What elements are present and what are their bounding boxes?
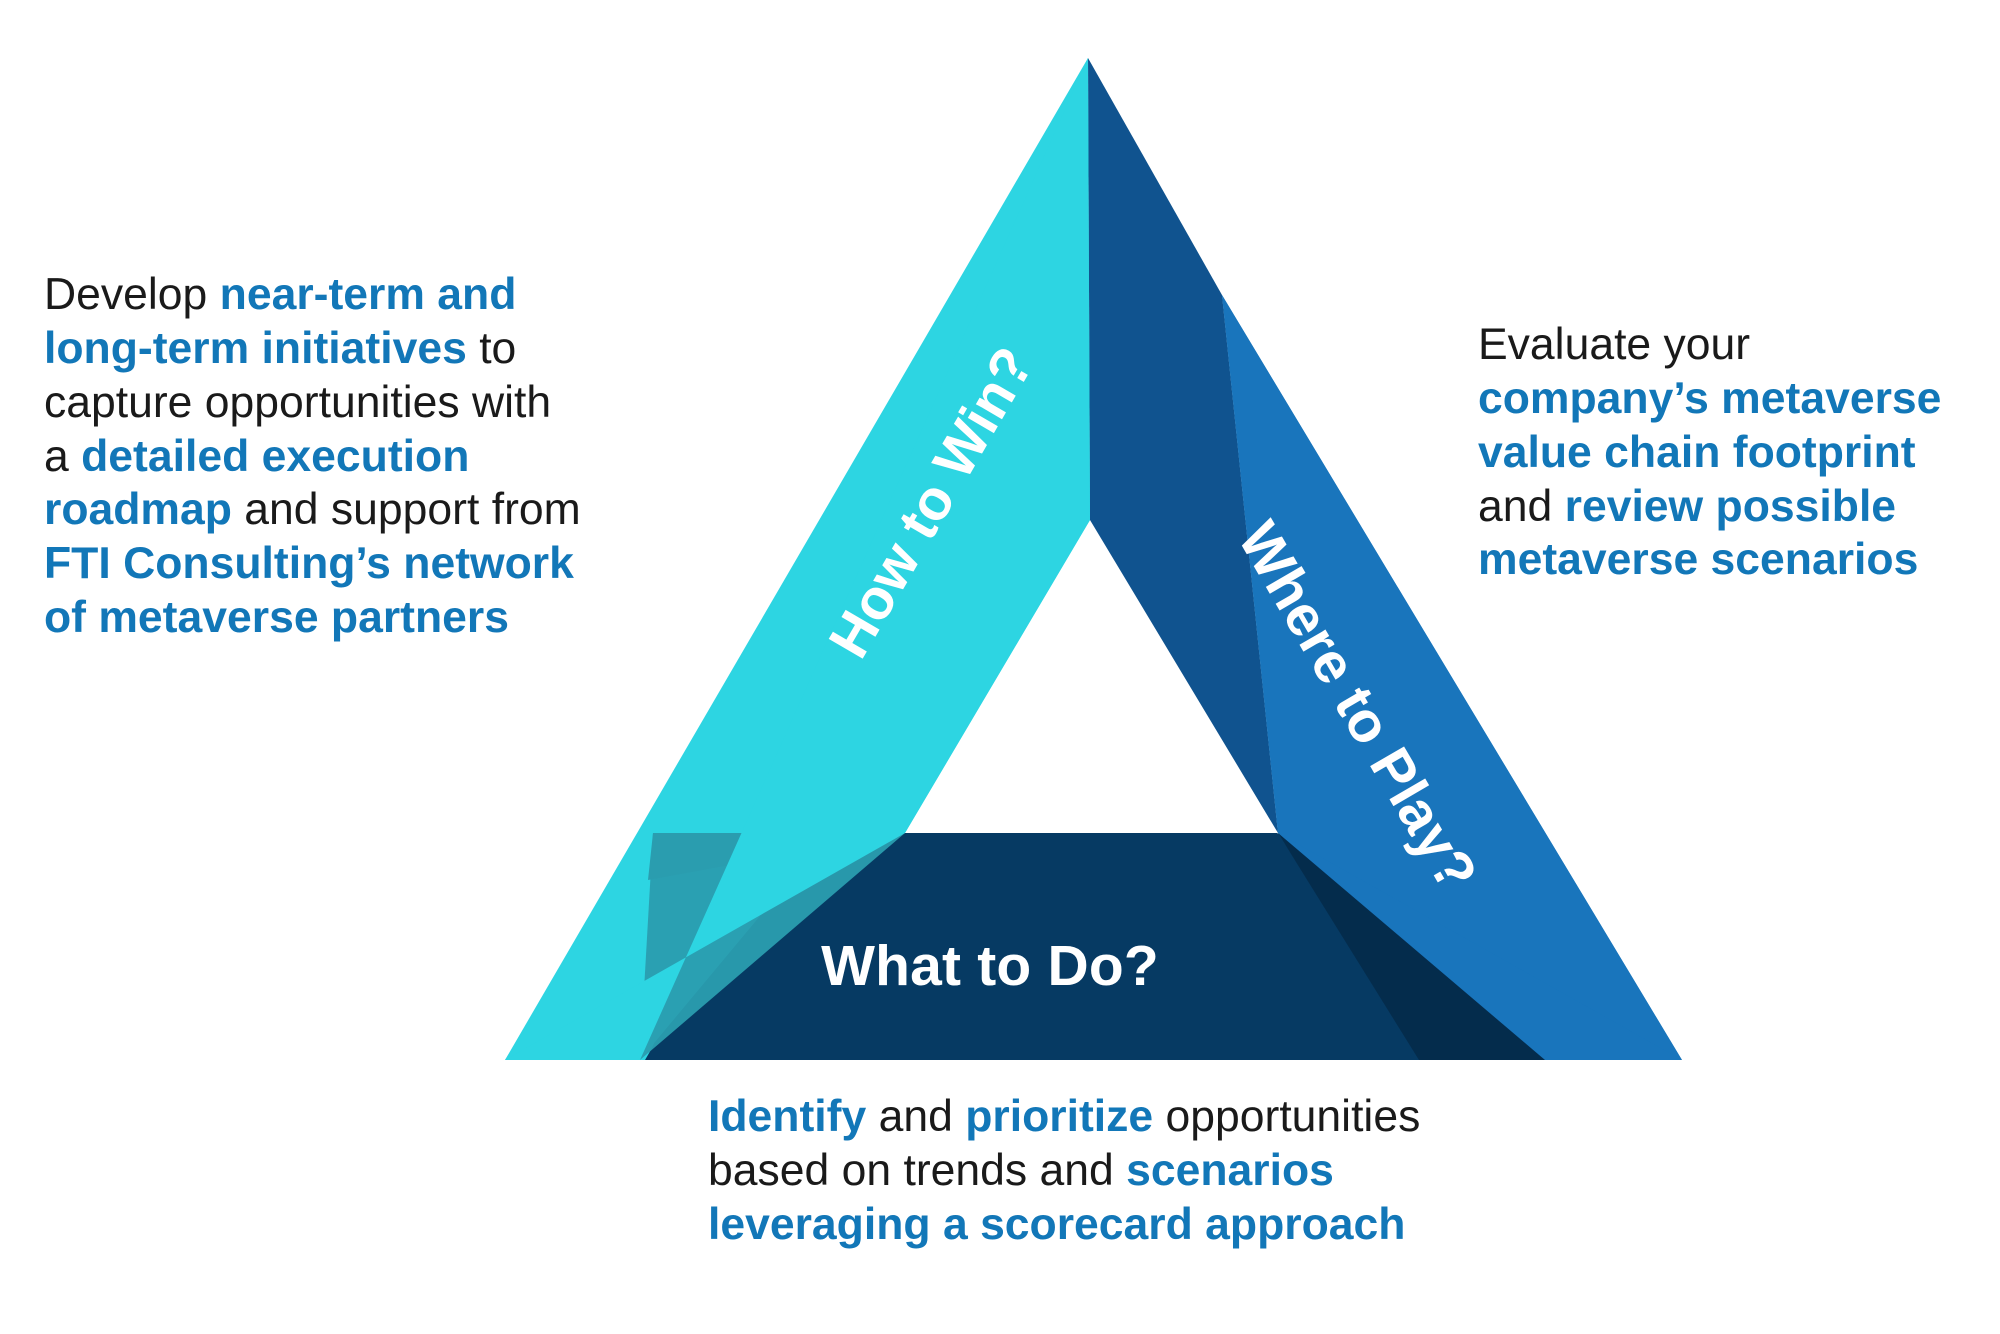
label-what-to-do: What to Do?: [821, 934, 1159, 998]
where-to-play-callout: Evaluate your company’s metaverse value …: [1478, 318, 1978, 587]
body-text: and: [1478, 482, 1565, 531]
emphasis-text: company’s metaverse value chain footprin…: [1478, 374, 1941, 477]
emphasis-text: FTI Consulting’s network of metaverse pa…: [44, 539, 574, 642]
label-what-to-do-group: What to Do?: [821, 934, 1159, 998]
body-text: and support from: [232, 485, 581, 534]
how-to-win-callout: Develop near-term and long-term initiati…: [44, 268, 584, 645]
body-text: Develop: [44, 270, 220, 319]
emphasis-text: prioritize: [965, 1092, 1153, 1141]
diagram-canvas: How to Win? Where to Play? What to Do? D…: [0, 0, 2000, 1334]
what-to-do-callout: Identify and prioritize opportunities ba…: [708, 1090, 1448, 1252]
emphasis-text: Identify: [708, 1092, 866, 1141]
body-text: and: [866, 1092, 965, 1141]
body-text: Evaluate your: [1478, 320, 1750, 369]
